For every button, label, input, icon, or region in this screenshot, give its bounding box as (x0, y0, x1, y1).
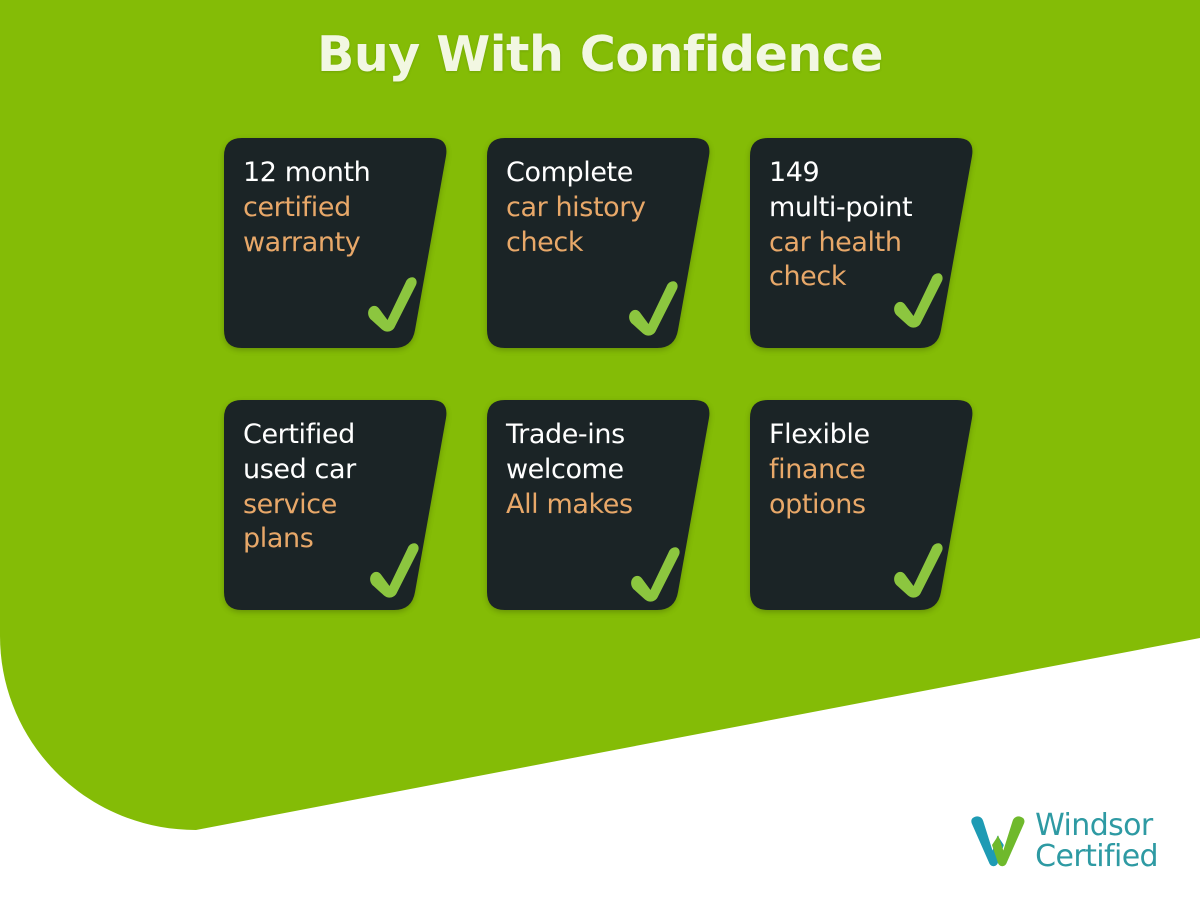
card-line-white: 149 (769, 156, 953, 191)
card-line-accent: check (506, 226, 690, 261)
card-line-accent: car health (769, 226, 953, 261)
page-title: Buy With Confidence (0, 26, 1200, 83)
brand-logo[interactable]: Windsor Certified (971, 810, 1158, 872)
feature-card-certified-used-car-service-plans[interactable]: Certified used car service plans (224, 400, 449, 610)
card-line-accent: finance (769, 453, 953, 488)
card-line-white: multi-point (769, 191, 953, 226)
windsor-w-logo-icon (971, 813, 1025, 869)
green-check-icon (624, 276, 680, 342)
card-line-accent: All makes (506, 488, 690, 523)
card-line-accent: options (769, 488, 953, 523)
logo-line-1: Windsor (1035, 810, 1158, 841)
card-line-white: Trade-ins (506, 418, 690, 453)
green-check-icon (626, 542, 682, 608)
card-text: Trade-ins welcome All makes (506, 418, 690, 522)
card-line-white: used car (243, 453, 427, 488)
card-text: 12 month certified warranty (243, 156, 427, 260)
card-line-accent: warranty (243, 226, 427, 261)
green-check-icon (889, 268, 945, 334)
card-line-accent: certified (243, 191, 427, 226)
card-line-accent: service (243, 488, 427, 523)
feature-card-12-month-certified-warranty[interactable]: 12 month certified warranty (224, 138, 449, 348)
card-text: Complete car history check (506, 156, 690, 260)
card-line-white: Certified (243, 418, 427, 453)
card-line-accent: car history (506, 191, 690, 226)
logo-wordmark: Windsor Certified (1035, 810, 1158, 872)
feature-card-flexible-finance-options[interactable]: Flexible finance options (750, 400, 975, 610)
poster-canvas: Buy With Confidence 12 month certified w… (0, 0, 1200, 900)
card-text: Certified used car service plans (243, 418, 427, 557)
green-check-icon (889, 538, 945, 604)
green-check-icon (365, 538, 421, 604)
card-line-white: Complete (506, 156, 690, 191)
card-text: Flexible finance options (769, 418, 953, 522)
feature-card-149-multi-point-car-health-check[interactable]: 149 multi-point car health check (750, 138, 975, 348)
feature-card-complete-car-history-check[interactable]: Complete car history check (487, 138, 712, 348)
card-line-white: 12 month (243, 156, 427, 191)
feature-card-grid: 12 month certified warranty Complete car… (224, 138, 984, 618)
card-line-white: Flexible (769, 418, 953, 453)
logo-line-2: Certified (1035, 841, 1158, 872)
feature-card-trade-ins-welcome-all-makes[interactable]: Trade-ins welcome All makes (487, 400, 712, 610)
green-check-icon (363, 272, 419, 338)
card-line-white: welcome (506, 453, 690, 488)
